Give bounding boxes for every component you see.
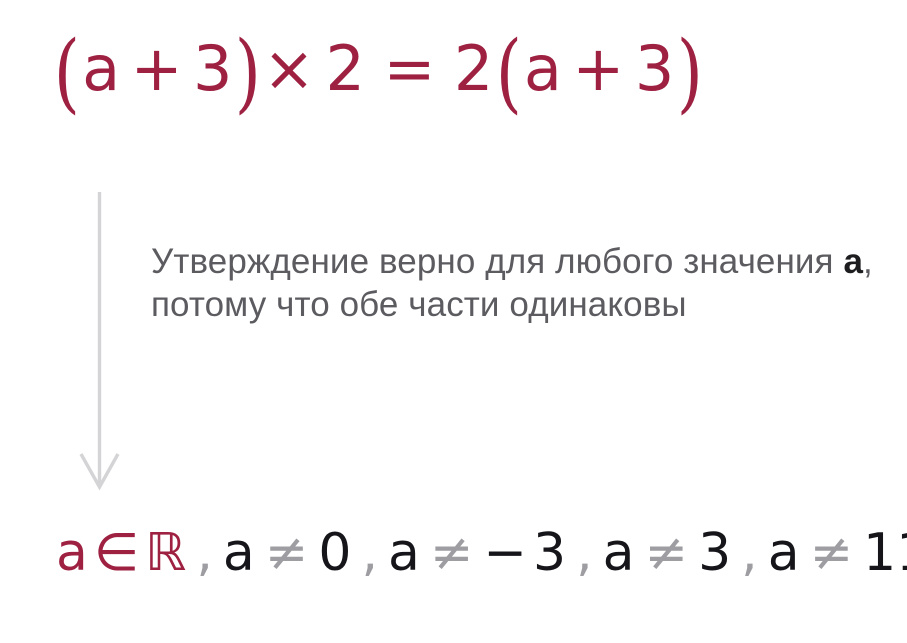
explanation-part-one: Утверждение верно для любого значения bbox=[151, 242, 843, 281]
equation-factor-two-right: 2 bbox=[454, 38, 494, 100]
answer-value-3: 3 bbox=[698, 523, 731, 583]
real-numbers-icon: ℝ bbox=[145, 523, 186, 583]
answer-minus-sign: − bbox=[483, 523, 527, 583]
equation-constant-three-right: 3 bbox=[635, 38, 675, 100]
close-paren-icon-2: ) bbox=[677, 47, 704, 100]
answer-value-2: 3 bbox=[533, 523, 566, 583]
not-equal-icon-1: ≠ bbox=[265, 523, 309, 583]
answer-comma-1: , bbox=[196, 523, 213, 583]
equation-variable-a-left: a bbox=[82, 38, 121, 100]
plus-operator-right: + bbox=[572, 38, 624, 100]
not-equal-icon-3: ≠ bbox=[645, 523, 689, 583]
answer-comma-2: , bbox=[361, 523, 378, 583]
element-of-icon: ∈ bbox=[94, 523, 139, 583]
explanation-text: Утверждение верно для любого значения a,… bbox=[151, 240, 881, 327]
equation-constant-three-left: 3 bbox=[193, 38, 233, 100]
answer-variable-3: a bbox=[388, 523, 420, 583]
page-canvas: (a+3)×2=2(a+3) Утверждение верно для люб… bbox=[0, 0, 907, 643]
not-equal-icon-2: ≠ bbox=[430, 523, 474, 583]
equation-variable-a-right: a bbox=[524, 38, 563, 100]
multiply-operator: × bbox=[263, 38, 315, 100]
answer-line: a∈ℝ,a≠0,a≠−3,a≠3,a≠11 bbox=[56, 527, 907, 579]
answer-comma-3: , bbox=[576, 523, 593, 583]
equals-operator: = bbox=[383, 38, 435, 100]
close-paren-icon: ) bbox=[235, 47, 262, 100]
answer-variable-2: a bbox=[223, 523, 255, 583]
answer-comma-4: , bbox=[741, 523, 758, 583]
equation-expression: (a+3)×2=2(a+3) bbox=[52, 38, 705, 100]
answer-value-1: 0 bbox=[318, 523, 351, 583]
explanation-variable: a bbox=[843, 242, 863, 281]
open-paren-icon: ( bbox=[54, 47, 81, 100]
equation-factor-two-left: 2 bbox=[325, 38, 365, 100]
down-arrow-icon bbox=[78, 190, 122, 496]
answer-variable-4: a bbox=[603, 523, 635, 583]
not-equal-icon-4: ≠ bbox=[810, 523, 854, 583]
answer-variable-1: a bbox=[56, 523, 88, 583]
plus-operator-left: + bbox=[131, 38, 183, 100]
answer-variable-5: a bbox=[768, 523, 800, 583]
answer-value-4: 11 bbox=[863, 523, 907, 583]
open-paren-icon-2: ( bbox=[496, 47, 523, 100]
